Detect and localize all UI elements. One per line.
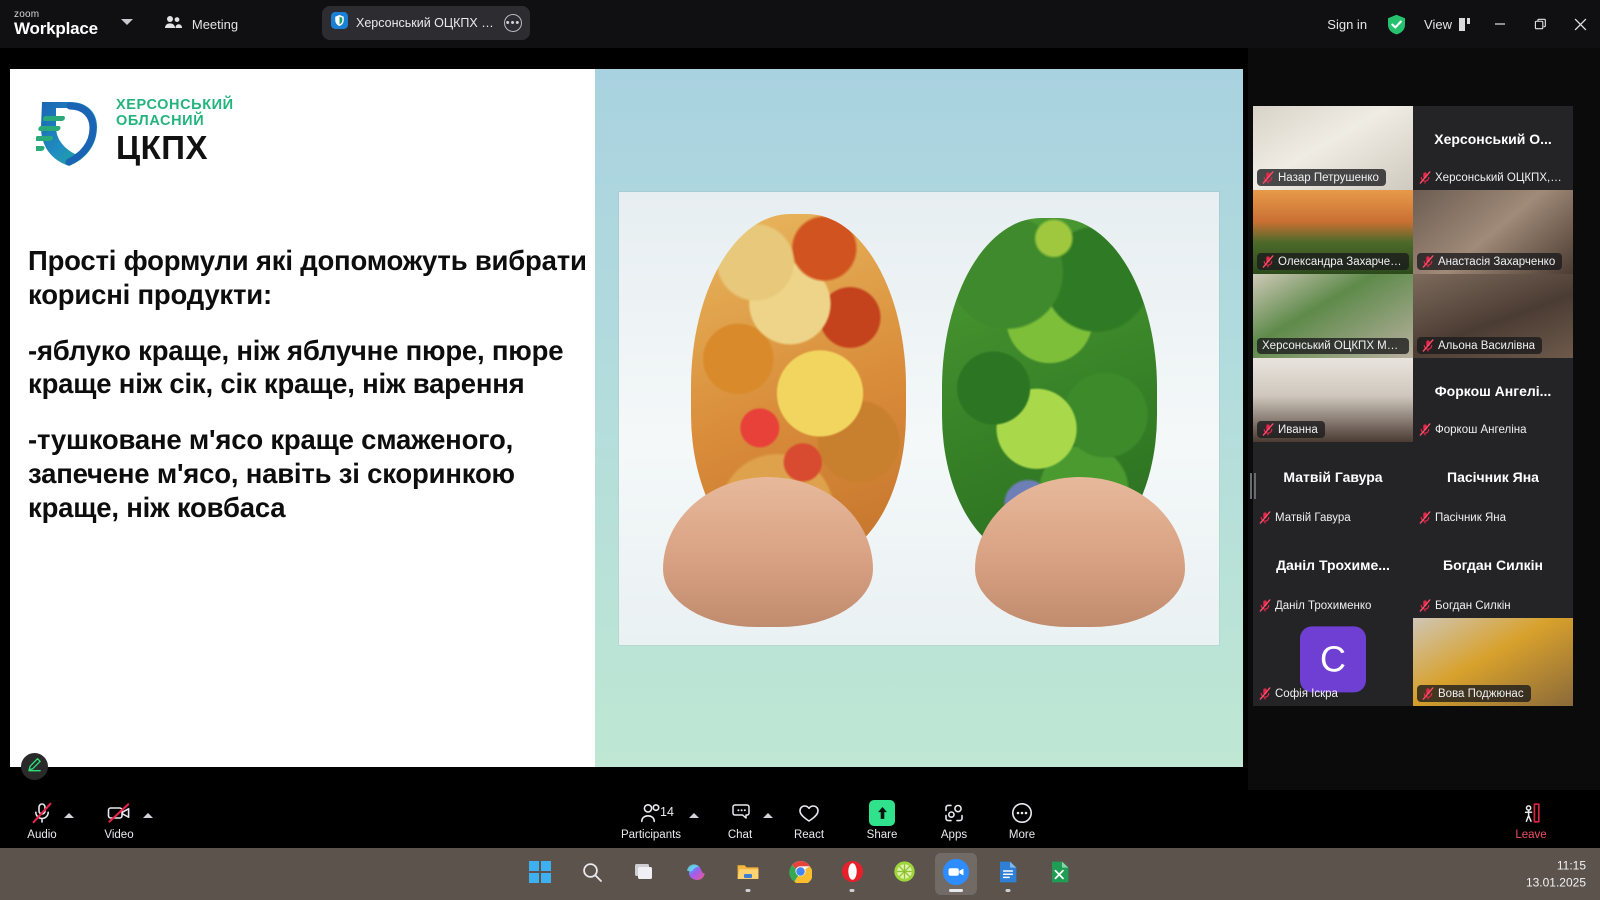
chevron-down-icon[interactable] [120,17,134,31]
excel-doc-icon [1049,860,1071,889]
participant-name-badge: Форкош Ангеліна [1417,421,1534,438]
participant-name-badge: Матвій Гавура [1257,509,1358,526]
share-screen-icon [869,800,895,826]
task-view-icon [633,862,655,887]
lime-app-icon [893,860,916,888]
video-button[interactable]: Video [96,794,142,846]
slide-image-panel [595,69,1243,767]
brand-workplace-text: Workplace [14,20,98,38]
leave-button[interactable]: Leave [1506,794,1556,846]
shared-screen-tab[interactable]: Херсонський ОЦКПХ МОЗ's scr ••• [322,6,530,40]
opera-button[interactable] [831,853,873,895]
sign-in-button[interactable]: Sign in [1319,17,1375,32]
participant-name-badge: Назар Петрушенко [1257,169,1386,186]
participant-name: Олександра Захарченко [1278,256,1402,268]
participant-tile[interactable]: Херсонський О...Херсонський ОЦКПХ, ком..… [1413,106,1573,190]
file-explorer-button[interactable] [727,853,769,895]
participant-name: Херсонський ОЦКПХ МОЗ [1262,340,1402,352]
heart-icon [797,800,821,826]
mic-off-icon [1262,423,1274,436]
react-button[interactable]: React [786,794,832,846]
share-label: Share [867,829,898,841]
word-button[interactable] [987,853,1029,895]
clock-date: 13.01.2025 [1526,874,1586,891]
meeting-toolbar: Audio Video Participants [0,790,1600,848]
zoom-button[interactable] [935,853,977,895]
participant-tile-row: ИваннаФоркош Ангелі...Форкош Ангеліна [1253,358,1573,442]
mic-off-icon [1422,255,1434,268]
participant-name: Назар Петрушенко [1278,172,1379,184]
participant-name-badge: Херсонський ОЦКПХ, ком... [1417,169,1569,186]
participant-name-badge: Пасічник Яна [1417,509,1513,526]
participant-name-badge: Даніл Трохименко [1257,597,1378,614]
participant-tile-row: Херсонський ОЦКПХ МОЗАльона Василівна [1253,274,1573,358]
running-indicator [850,889,855,892]
start-button[interactable] [519,853,561,895]
more-button[interactable]: More [998,794,1046,846]
participant-tile[interactable]: Пасічник ЯнаПасічник Яна [1413,442,1573,530]
audio-button[interactable]: Audio [20,794,64,846]
taskbar-icons [519,853,1081,895]
logo-line-3: ЦКПХ [116,131,234,165]
logo-line-2: ОБЛАСНИЙ [116,113,234,129]
participant-tile[interactable]: Матвій ГавураМатвій Гавура [1253,442,1413,530]
participant-name-badge: Херсонський ОЦКПХ МОЗ [1257,338,1409,354]
lime-app-button[interactable] [883,853,925,895]
ellipsis-circle-icon [1010,800,1034,826]
share-button[interactable]: Share [858,794,906,846]
participant-name: Иванна [1278,424,1318,436]
search-icon [581,861,603,888]
slide-paragraph-3: -тушковане м'ясо краще смаженого, запече… [28,423,588,524]
participant-name: Богдан Силкін [1435,600,1511,612]
zoom-meeting-window: zoom Workplace Meeting [0,0,1600,900]
meeting-tab-label: Meeting [192,17,238,32]
slide-paragraph-2: -яблуко краще, ніж яблучне пюре, пюре кр… [28,334,588,402]
participant-name-badge: Богдан Силкін [1417,597,1518,614]
copilot-button[interactable] [675,853,717,895]
word-doc-icon [997,860,1019,889]
participant-tile[interactable]: Богдан СилкінБогдан Силкін [1413,530,1573,618]
excel-button[interactable] [1039,853,1081,895]
close-button[interactable] [1560,0,1600,48]
participant-name-badge: Софія Іскра [1257,685,1345,702]
apps-label: Apps [941,829,967,841]
participant-tile-row: Матвій ГавураМатвій ГавураПасічник ЯнаПа… [1253,442,1573,530]
participant-tile[interactable]: Анастасія Захарченко [1413,190,1573,274]
participant-tile[interactable]: Херсонський ОЦКПХ МОЗ [1253,274,1413,358]
view-button[interactable]: View [1418,17,1480,32]
task-view-button[interactable] [623,853,665,895]
participant-tile-row: Назар ПетрушенкоХерсонський О...Херсонсь… [1253,106,1573,190]
view-label: View [1424,17,1452,32]
video-options-chevron-icon[interactable] [141,808,155,822]
mic-off-icon [1422,687,1434,700]
organization-logo: ХЕРСОНСЬКИЙ ОБЛАСНИЙ ЦКПХ [36,94,234,168]
mic-off-icon [1419,423,1431,436]
chrome-icon [789,860,812,888]
resize-grip-icon[interactable] [1250,473,1257,499]
participant-name: Пасічник Яна [1435,512,1506,524]
participant-name: Матвій Гавура [1275,512,1351,524]
clock-time: 11:15 [1526,857,1586,874]
title-bar-right-controls: Sign in View [1319,0,1600,48]
mic-off-icon [1419,171,1431,184]
windows-taskbar: 11:15 13.01.2025 [0,848,1600,900]
right-hand [975,477,1185,627]
participant-tile[interactable]: Иванна [1253,358,1413,442]
mic-off-icon [1259,687,1271,700]
participant-name: Софія Іскра [1275,688,1338,700]
participant-rail: Назар ПетрушенкоХерсонський О...Херсонсь… [1248,48,1600,790]
participant-tile[interactable]: Назар Петрушенко [1253,106,1413,190]
chat-chevron-icon[interactable] [761,808,775,822]
meeting-tab[interactable]: Meeting [164,15,238,34]
zoom-workplace-logo: zoom Workplace [14,10,98,38]
mic-off-icon [1262,171,1274,184]
file-explorer-icon [736,862,760,887]
slide-text-panel: ХЕРСОНСЬКИЙ ОБЛАСНИЙ ЦКПХ Прості формули… [10,69,595,767]
react-label: React [794,829,824,841]
slide-body-text: Прості формули які допоможуть вибрати ко… [28,244,588,547]
annotate-button[interactable] [21,753,48,780]
mic-off-icon [1262,255,1274,268]
logo-line-1: ХЕРСОНСЬКИЙ [116,97,234,113]
mic-off-icon [1259,511,1271,524]
zoom-icon [942,858,970,891]
chat-button[interactable]: Chat [716,794,764,846]
mic-off-icon [1419,599,1431,612]
participant-tile-row: CСофія ІскраВова Поджюнас [1253,618,1573,706]
participant-tile[interactable]: Вова Поджюнас [1413,618,1573,706]
running-indicator [949,889,963,892]
participant-tile[interactable]: Альона Василівна [1413,274,1573,358]
more-label: More [1009,829,1035,841]
participant-tiles: Назар ПетрушенкоХерсонський О...Херсонсь… [1253,106,1573,706]
apps-icon [942,800,966,826]
ellipsis-icon[interactable]: ••• [504,14,522,32]
video-label: Video [104,829,133,841]
layout-view-icon [1459,18,1474,31]
leave-label: Leave [1515,829,1546,841]
participants-label: Participants [621,829,681,841]
participant-name: Альона Василівна [1438,340,1535,352]
participant-name: Херсонський ОЦКПХ, ком... [1435,172,1562,184]
apps-button[interactable]: Apps [930,794,978,846]
participant-name: Вова Поджюнас [1438,688,1524,700]
shield-app-icon [331,12,348,34]
opera-icon [841,860,864,888]
participant-tile[interactable]: Форкош Ангелі...Форкош Ангеліна [1413,358,1573,442]
chat-bubble-icon [728,800,752,826]
participant-tile[interactable]: CСофія Іскра [1253,618,1413,706]
chat-label: Chat [728,829,752,841]
pen-annotate-icon [27,757,42,777]
participants-count: 14 [660,805,674,819]
shield-leaf-logo-icon [36,94,102,168]
participant-name-badge: Вова Поджюнас [1417,685,1531,702]
participant-tile[interactable]: Олександра Захарченко [1253,190,1413,274]
mic-off-icon [1422,339,1434,352]
taskbar-clock[interactable]: 11:15 13.01.2025 [1526,857,1586,890]
participant-name-badge: Альона Василівна [1417,337,1542,354]
organization-logo-text: ХЕРСОНСЬКИЙ ОБЛАСНИЙ ЦКПХ [116,97,234,165]
food-comparison-image [619,192,1219,645]
shield-check-icon[interactable] [1387,14,1406,35]
running-indicator [1006,889,1011,892]
participant-name-badge: Анастасія Захарченко [1417,253,1562,270]
shared-screen-stage: ХЕРСОНСЬКИЙ ОБЛАСНИЙ ЦКПХ Прості формули… [0,48,1248,790]
participant-tile-row: Олександра ЗахарченкоАнастасія Захарченк… [1253,190,1573,274]
people-icon [164,15,182,34]
participant-tile-row: Даніл Трохиме...Даніл ТрохименкоБогдан С… [1253,530,1573,618]
participant-tile[interactable]: Даніл Трохиме...Даніл Трохименко [1253,530,1413,618]
search-button[interactable] [571,853,613,895]
windows-start-icon [529,861,551,888]
minimize-button[interactable] [1480,0,1520,48]
participant-name: Даніл Трохименко [1275,600,1371,612]
participant-name-badge: Иванна [1257,421,1325,438]
mic-off-icon [1419,511,1431,524]
presentation-slide: ХЕРСОНСЬКИЙ ОБЛАСНИЙ ЦКПХ Прості формули… [10,69,1243,767]
audio-options-chevron-icon[interactable] [62,808,76,822]
avatar: C [1300,626,1366,692]
participant-name: Форкош Ангеліна [1435,424,1527,436]
participant-name: Анастасія Захарченко [1438,256,1555,268]
audio-label: Audio [27,829,56,841]
mic-off-icon [1259,599,1271,612]
left-hand [663,477,873,627]
participants-chevron-icon[interactable] [687,808,701,822]
shared-screen-tab-title: Херсонський ОЦКПХ МОЗ's scr [356,16,496,30]
restore-button[interactable] [1520,0,1560,48]
leave-door-icon [1519,800,1543,826]
title-bar: zoom Workplace Meeting [0,0,1600,48]
copilot-icon [684,861,708,888]
mic-off-icon [30,800,54,826]
participants-button[interactable]: Participants [612,794,690,846]
running-indicator [746,889,751,892]
chrome-button[interactable] [779,853,821,895]
camera-off-icon [106,800,132,826]
participant-name-badge: Олександра Захарченко [1257,253,1409,270]
slide-paragraph-1: Прості формули які допоможуть вибрати ко… [28,244,588,312]
